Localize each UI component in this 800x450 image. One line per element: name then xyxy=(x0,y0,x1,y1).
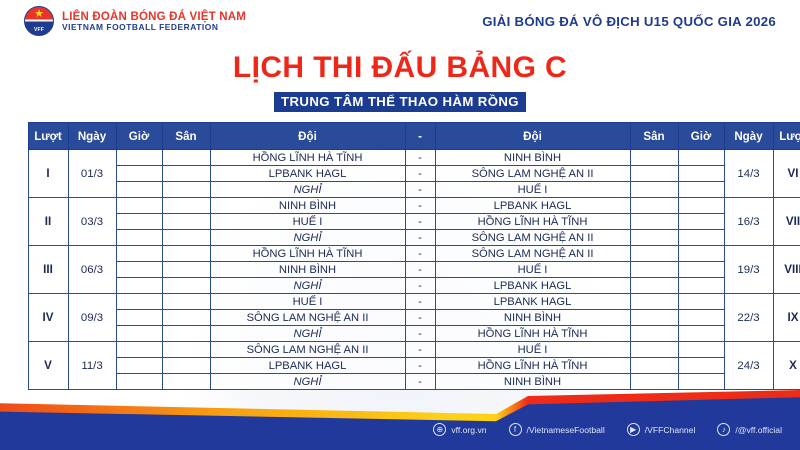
cell-separator: - xyxy=(405,214,435,230)
cell-time-left xyxy=(116,214,162,230)
cell-field-right xyxy=(630,246,678,262)
cell-time-left xyxy=(116,342,162,358)
cell-time-right xyxy=(678,326,724,342)
cell-home-team: HUẾ I xyxy=(210,214,405,230)
cell-home-team: HỒNG LĨNH HÀ TĨNH xyxy=(210,150,405,166)
cell-time-right xyxy=(678,310,724,326)
cell-home-team: SÔNG LAM NGHỆ AN II xyxy=(210,342,405,358)
cell-date-right: 24/3 xyxy=(724,342,773,390)
cell-field-left xyxy=(162,278,210,294)
cell-date-left: 06/3 xyxy=(68,246,116,294)
cell-field-left xyxy=(162,358,210,374)
table-row: III06/3HỒNG LĨNH HÀ TĨNH-SÔNG LAM NGHỆ A… xyxy=(28,246,800,262)
table-head: Lượt Ngày Giờ Sân Đội - Đội Sân Giờ Ngày… xyxy=(28,123,800,150)
social-label: /VFFChannel xyxy=(645,425,696,435)
col-time-left: Giờ xyxy=(116,123,162,150)
schedule-table: Lượt Ngày Giờ Sân Đội - Đội Sân Giờ Ngày… xyxy=(28,122,800,390)
cell-separator: - xyxy=(405,342,435,358)
col-field-left: Sân xyxy=(162,123,210,150)
tiktok-icon: ♪ xyxy=(717,423,730,436)
cell-round-right: VI xyxy=(773,150,800,198)
social-label: /VietnameseFootball xyxy=(527,425,605,435)
social-link[interactable]: ▶/VFFChannel xyxy=(627,423,696,436)
col-date-left: Ngày xyxy=(68,123,116,150)
cell-round-left: III xyxy=(28,246,68,294)
cell-time-right xyxy=(678,278,724,294)
cell-field-right xyxy=(630,230,678,246)
cell-round-left: II xyxy=(28,198,68,246)
cell-field-left xyxy=(162,310,210,326)
vff-crest-icon xyxy=(24,6,54,36)
cell-separator: - xyxy=(405,374,435,390)
cell-date-right: 16/3 xyxy=(724,198,773,246)
cell-round-right: IX xyxy=(773,294,800,342)
cell-home-team: NGHỈ xyxy=(210,230,405,246)
cell-field-right xyxy=(630,342,678,358)
cell-time-right xyxy=(678,262,724,278)
cell-round-left: V xyxy=(28,342,68,390)
cell-date-right: 14/3 xyxy=(724,150,773,198)
cell-time-left xyxy=(116,150,162,166)
cell-field-left xyxy=(162,150,210,166)
social-link[interactable]: f/VietnameseFootball xyxy=(509,423,605,436)
table-row: NGHỈ-LPBANK HAGL xyxy=(28,278,800,294)
cell-time-right xyxy=(678,182,724,198)
cell-separator: - xyxy=(405,278,435,294)
cell-away-team: SÔNG LAM NGHỆ AN II xyxy=(435,230,630,246)
venue-badge: TRUNG TÂM THỂ THAO HÀM RỒNG xyxy=(274,92,526,112)
cell-date-left: 09/3 xyxy=(68,294,116,342)
col-date-right: Ngày xyxy=(724,123,773,150)
cell-away-team: NINH BÌNH xyxy=(435,310,630,326)
brand-name-en: VIETNAM FOOTBALL FEDERATION xyxy=(62,23,246,32)
cell-round-right: VIII xyxy=(773,246,800,294)
cell-time-left xyxy=(116,246,162,262)
cell-home-team: NGHỈ xyxy=(210,326,405,342)
cell-time-right xyxy=(678,150,724,166)
cell-separator: - xyxy=(405,166,435,182)
cell-separator: - xyxy=(405,358,435,374)
col-round-left: Lượt xyxy=(28,123,68,150)
cell-separator: - xyxy=(405,182,435,198)
cell-time-right xyxy=(678,230,724,246)
cell-field-left xyxy=(162,230,210,246)
cell-field-left xyxy=(162,214,210,230)
venue-row: TRUNG TÂM THỂ THAO HÀM RỒNG xyxy=(0,92,800,112)
cell-away-team: LPBANK HAGL xyxy=(435,198,630,214)
cell-field-right xyxy=(630,278,678,294)
table-row: LPBANK HAGL-SÔNG LAM NGHỆ AN II xyxy=(28,166,800,182)
cell-away-team: LPBANK HAGL xyxy=(435,278,630,294)
cell-time-left xyxy=(116,230,162,246)
table-row: V11/3SÔNG LAM NGHỆ AN II-HUẾ I24/3X xyxy=(28,342,800,358)
cell-date-right: 19/3 xyxy=(724,246,773,294)
col-field-right: Sân xyxy=(630,123,678,150)
cell-separator: - xyxy=(405,262,435,278)
cell-home-team: NGHỈ xyxy=(210,374,405,390)
col-away-team: Đội xyxy=(435,123,630,150)
cell-date-left: 01/3 xyxy=(68,150,116,198)
cell-field-right xyxy=(630,150,678,166)
cell-away-team: HUẾ I xyxy=(435,342,630,358)
cell-round-right: X xyxy=(773,342,800,390)
cell-field-right xyxy=(630,262,678,278)
cell-separator: - xyxy=(405,230,435,246)
cell-home-team: SÔNG LAM NGHỆ AN II xyxy=(210,310,405,326)
table-row: LPBANK HAGL-HỒNG LĨNH HÀ TĨNH xyxy=(28,358,800,374)
cell-away-team: LPBANK HAGL xyxy=(435,294,630,310)
cell-field-left xyxy=(162,246,210,262)
cell-date-right: 22/3 xyxy=(724,294,773,342)
brand-text: LIÊN ĐOÀN BÓNG ĐÁ VIỆT NAM VIETNAM FOOTB… xyxy=(62,11,246,32)
cell-away-team: NINH BÌNH xyxy=(435,374,630,390)
cell-field-right xyxy=(630,294,678,310)
cell-time-left xyxy=(116,166,162,182)
cell-field-right xyxy=(630,374,678,390)
cell-field-right xyxy=(630,214,678,230)
cell-time-left xyxy=(116,310,162,326)
social-links: ⊕vff.org.vnf/VietnameseFootball▶/VFFChan… xyxy=(433,423,782,436)
table-row: NGHỈ-HUẾ I xyxy=(28,182,800,198)
cell-away-team: SÔNG LAM NGHỆ AN II xyxy=(435,246,630,262)
cell-time-right xyxy=(678,342,724,358)
col-separator: - xyxy=(405,123,435,150)
cell-time-left xyxy=(116,294,162,310)
table-row: NGHỈ-SÔNG LAM NGHỆ AN II xyxy=(28,230,800,246)
cell-separator: - xyxy=(405,310,435,326)
cell-date-left: 03/3 xyxy=(68,198,116,246)
cell-field-right xyxy=(630,358,678,374)
table-row: II03/3NINH BÌNH-LPBANK HAGL16/3VII xyxy=(28,198,800,214)
globe-icon: ⊕ xyxy=(433,423,446,436)
cell-away-team: HUẾ I xyxy=(435,182,630,198)
cell-time-right xyxy=(678,246,724,262)
cell-field-left xyxy=(162,374,210,390)
cell-field-left xyxy=(162,262,210,278)
col-time-right: Giờ xyxy=(678,123,724,150)
cell-field-right xyxy=(630,166,678,182)
cell-time-left xyxy=(116,262,162,278)
table-row: HUẾ I-HỒNG LĨNH HÀ TĨNH xyxy=(28,214,800,230)
header-row: Lượt Ngày Giờ Sân Đội - Đội Sân Giờ Ngày… xyxy=(28,123,800,150)
cell-away-team: NINH BÌNH xyxy=(435,150,630,166)
cell-field-right xyxy=(630,310,678,326)
cell-time-right xyxy=(678,198,724,214)
cell-field-right xyxy=(630,326,678,342)
page-title: LỊCH THI ĐẤU BẢNG C xyxy=(0,51,800,85)
table-row: IV09/3HUẾ I-LPBANK HAGL22/3IX xyxy=(28,294,800,310)
cell-away-team: HỒNG LĨNH HÀ TĨNH xyxy=(435,326,630,342)
social-label: vff.org.vn xyxy=(451,425,486,435)
cell-separator: - xyxy=(405,198,435,214)
cell-home-team: NINH BÌNH xyxy=(210,198,405,214)
cell-separator: - xyxy=(405,294,435,310)
table-body: I01/3HỒNG LĨNH HÀ TĨNH-NINH BÌNH14/3VILP… xyxy=(28,150,800,390)
cell-time-right xyxy=(678,374,724,390)
social-link[interactable]: ♪/@vff.official xyxy=(717,423,782,436)
table-row: SÔNG LAM NGHỆ AN II-NINH BÌNH xyxy=(28,310,800,326)
cell-home-team: NGHỈ xyxy=(210,278,405,294)
col-home-team: Đội xyxy=(210,123,405,150)
cell-separator: - xyxy=(405,150,435,166)
cell-round-left: IV xyxy=(28,294,68,342)
cell-home-team: LPBANK HAGL xyxy=(210,166,405,182)
cell-away-team: HỒNG LĨNH HÀ TĨNH xyxy=(435,358,630,374)
cell-field-left xyxy=(162,342,210,358)
table-row: I01/3HỒNG LĨNH HÀ TĨNH-NINH BÌNH14/3VI xyxy=(28,150,800,166)
table-row: NGHỈ-HỒNG LĨNH HÀ TĨNH xyxy=(28,326,800,342)
cell-round-left: I xyxy=(28,150,68,198)
page-footer: ⊕vff.org.vnf/VietnameseFootball▶/VFFChan… xyxy=(0,390,800,450)
cell-time-left xyxy=(116,374,162,390)
cell-home-team: NGHỈ xyxy=(210,182,405,198)
competition-title: GIẢI BÓNG ĐÁ VÔ ĐỊCH U15 QUỐC GIA 2026 xyxy=(482,14,776,29)
cell-away-team: SÔNG LAM NGHỆ AN II xyxy=(435,166,630,182)
cell-round-right: VII xyxy=(773,198,800,246)
table-row: NGHỈ-NINH BÌNH xyxy=(28,374,800,390)
social-link[interactable]: ⊕vff.org.vn xyxy=(433,423,486,436)
cell-field-right xyxy=(630,182,678,198)
cell-field-right xyxy=(630,198,678,214)
cell-date-left: 11/3 xyxy=(68,342,116,390)
cell-time-left xyxy=(116,358,162,374)
col-round-right: Lượt xyxy=(773,123,800,150)
cell-time-right xyxy=(678,166,724,182)
cell-home-team: NINH BÌNH xyxy=(210,262,405,278)
cell-time-left xyxy=(116,198,162,214)
cell-field-left xyxy=(162,294,210,310)
social-label: /@vff.official xyxy=(735,425,782,435)
cell-time-right xyxy=(678,214,724,230)
brand-name-vi: LIÊN ĐOÀN BÓNG ĐÁ VIỆT NAM xyxy=(62,11,246,23)
cell-field-left xyxy=(162,166,210,182)
cell-field-left xyxy=(162,182,210,198)
cell-time-right xyxy=(678,294,724,310)
cell-time-left xyxy=(116,326,162,342)
cell-home-team: LPBANK HAGL xyxy=(210,358,405,374)
cell-separator: - xyxy=(405,246,435,262)
cell-field-left xyxy=(162,198,210,214)
cell-away-team: HỒNG LĨNH HÀ TĨNH xyxy=(435,214,630,230)
cell-time-left xyxy=(116,278,162,294)
youtube-icon: ▶ xyxy=(627,423,640,436)
page-header: LIÊN ĐOÀN BÓNG ĐÁ VIỆT NAM VIETNAM FOOTB… xyxy=(0,0,800,42)
cell-time-right xyxy=(678,358,724,374)
cell-separator: - xyxy=(405,326,435,342)
cell-time-left xyxy=(116,182,162,198)
facebook-icon: f xyxy=(509,423,522,436)
cell-away-team: HUẾ I xyxy=(435,262,630,278)
cell-home-team: HỒNG LĨNH HÀ TĨNH xyxy=(210,246,405,262)
cell-home-team: HUẾ I xyxy=(210,294,405,310)
vff-brand: LIÊN ĐOÀN BÓNG ĐÁ VIỆT NAM VIETNAM FOOTB… xyxy=(24,6,246,36)
schedule-table-wrapper: Lượt Ngày Giờ Sân Đội - Đội Sân Giờ Ngày… xyxy=(28,122,773,390)
cell-field-left xyxy=(162,326,210,342)
table-row: NINH BÌNH-HUẾ I xyxy=(28,262,800,278)
